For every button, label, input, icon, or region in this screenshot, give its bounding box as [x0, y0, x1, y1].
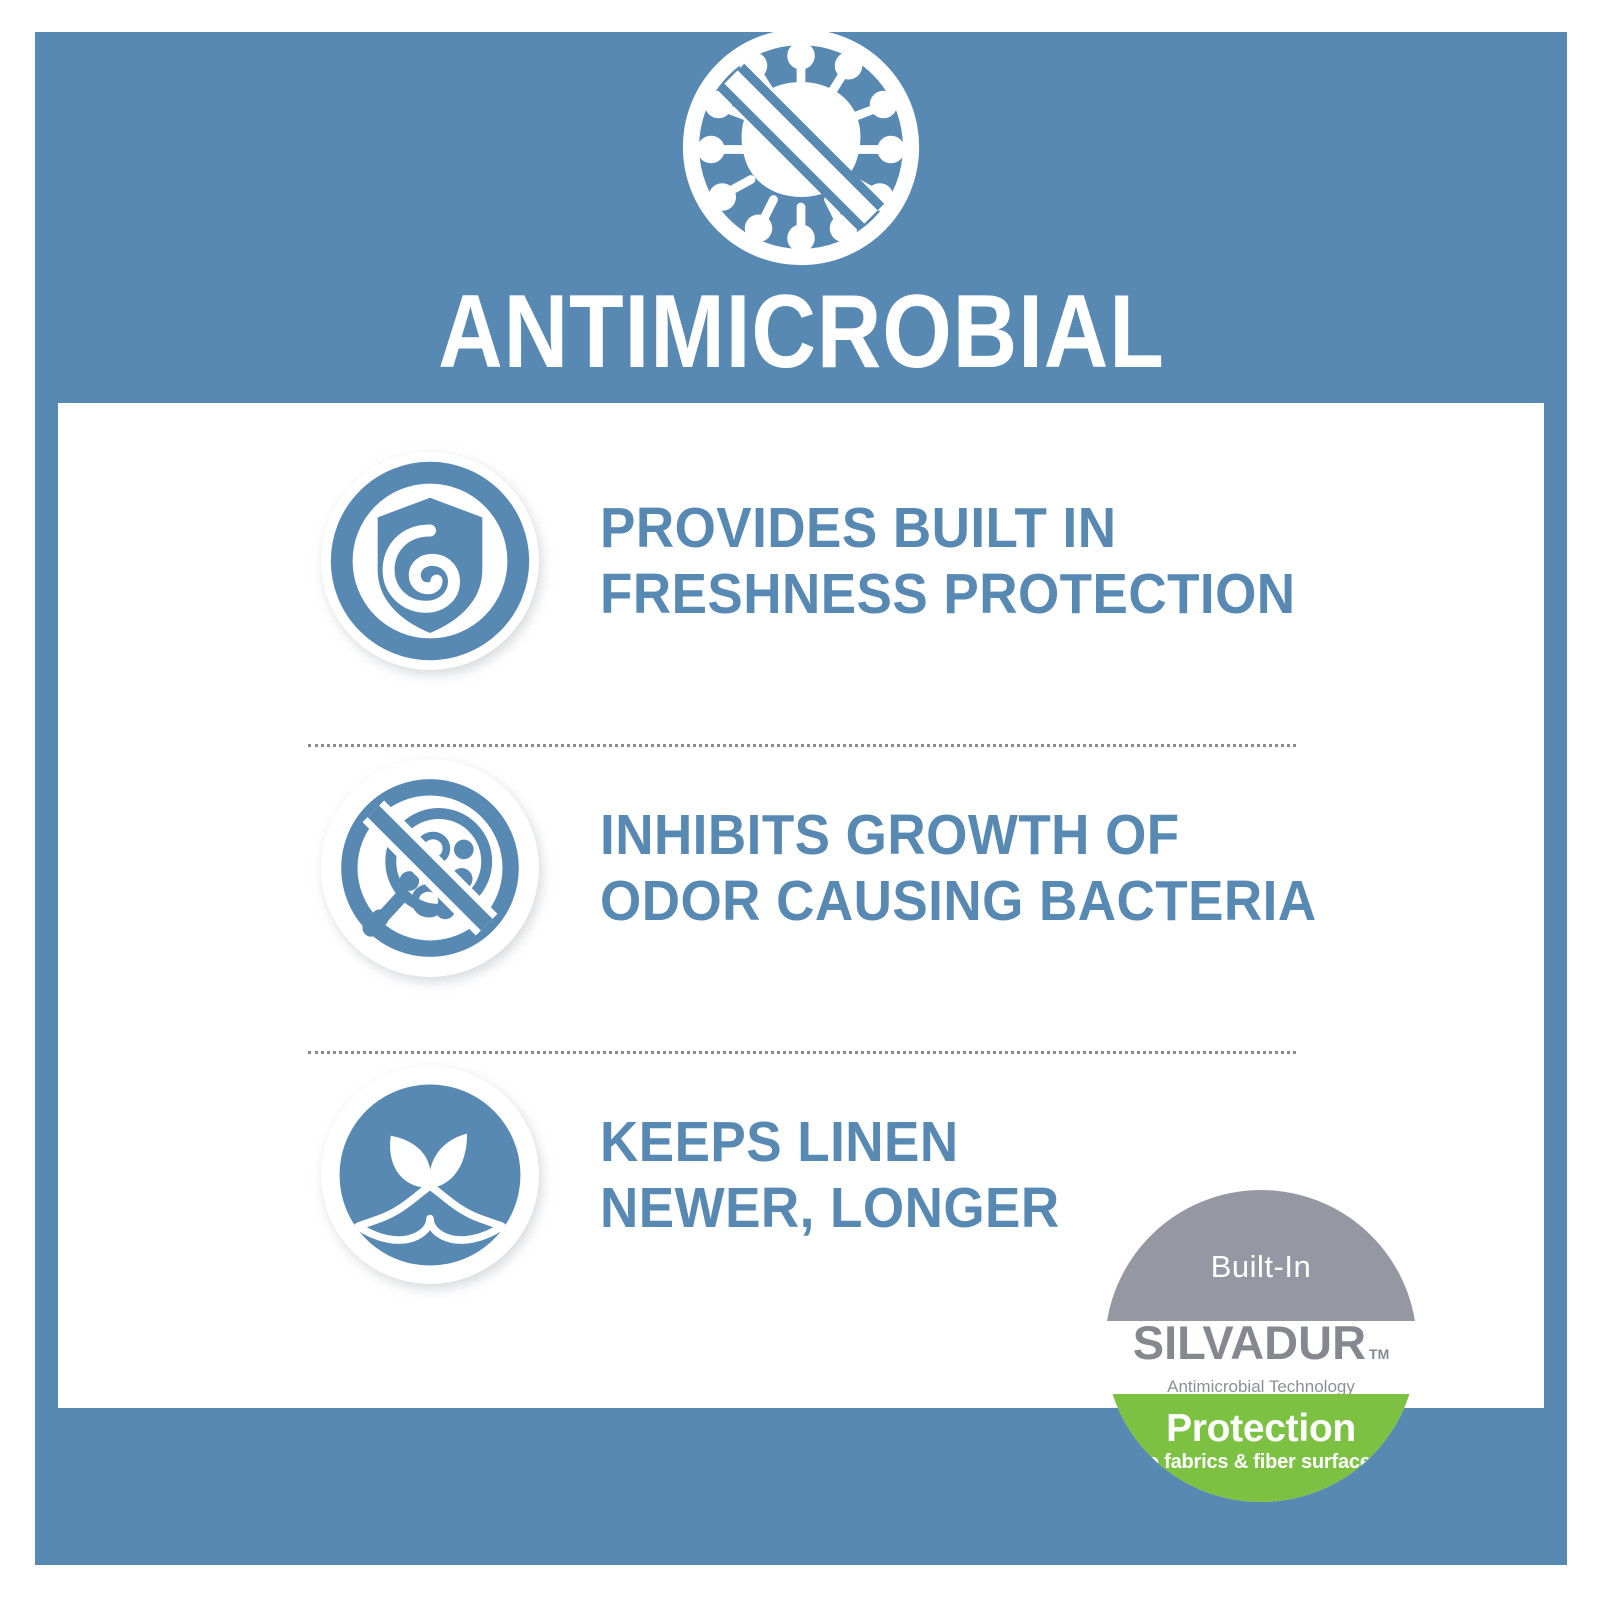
infographic-canvas: ANTIMICROBIAL PROVIDES BUILT IN FRESHNES…: [0, 0, 1600, 1600]
badge-built-in-label: Built-In: [1211, 1249, 1311, 1285]
page-title: ANTIMICROBIAL: [438, 280, 1165, 384]
badge-wordmark-text: SILVADUR: [1133, 1316, 1366, 1369]
leaf-fabric-icon: [321, 1066, 539, 1284]
badge-middle-section: SILVADURTM Antimicrobial Technology: [1105, 1321, 1417, 1394]
badge-circle: Built-In SILVADURTM Antimicrobial Techno…: [1105, 1190, 1417, 1502]
badge-bottom-section: Protection to fabrics & fiber surfaces: [1105, 1394, 1417, 1502]
virus-blocked-icon: [676, 22, 926, 272]
feature-icon-container: [305, 452, 555, 670]
feature-label: PROVIDES BUILT IN FRESHNESS PROTECTION: [600, 495, 1296, 627]
feature-label: KEEPS LINEN NEWER, LONGER: [600, 1109, 1060, 1241]
trademark-symbol: TM: [1369, 1346, 1389, 1362]
feature-icon-container: [305, 1066, 555, 1284]
feature-icon-container: [305, 759, 555, 977]
badge-protection-subtitle: to fabrics & fiber surfaces: [1140, 1450, 1381, 1474]
no-bacteria-magnifier-icon: [321, 759, 539, 977]
feature-row: PROVIDES BUILT IN FRESHNESS PROTECTION: [58, 411, 1544, 711]
feature-label: INHIBITS GROWTH OF ODOR CAUSING BACTERIA: [600, 802, 1317, 934]
feature-row: INHIBITS GROWTH OF ODOR CAUSING BACTERIA: [58, 718, 1544, 1018]
shield-swirl-icon: [321, 452, 539, 670]
header: ANTIMICROBIAL: [35, 32, 1567, 403]
badge-protection-title: Protection: [1166, 1408, 1356, 1450]
silvadur-logo-badge: Built-In SILVADURTM Antimicrobial Techno…: [1105, 1190, 1417, 1502]
badge-wordmark: SILVADURTM: [1133, 1319, 1389, 1378]
badge-top-section: Built-In: [1105, 1190, 1417, 1321]
